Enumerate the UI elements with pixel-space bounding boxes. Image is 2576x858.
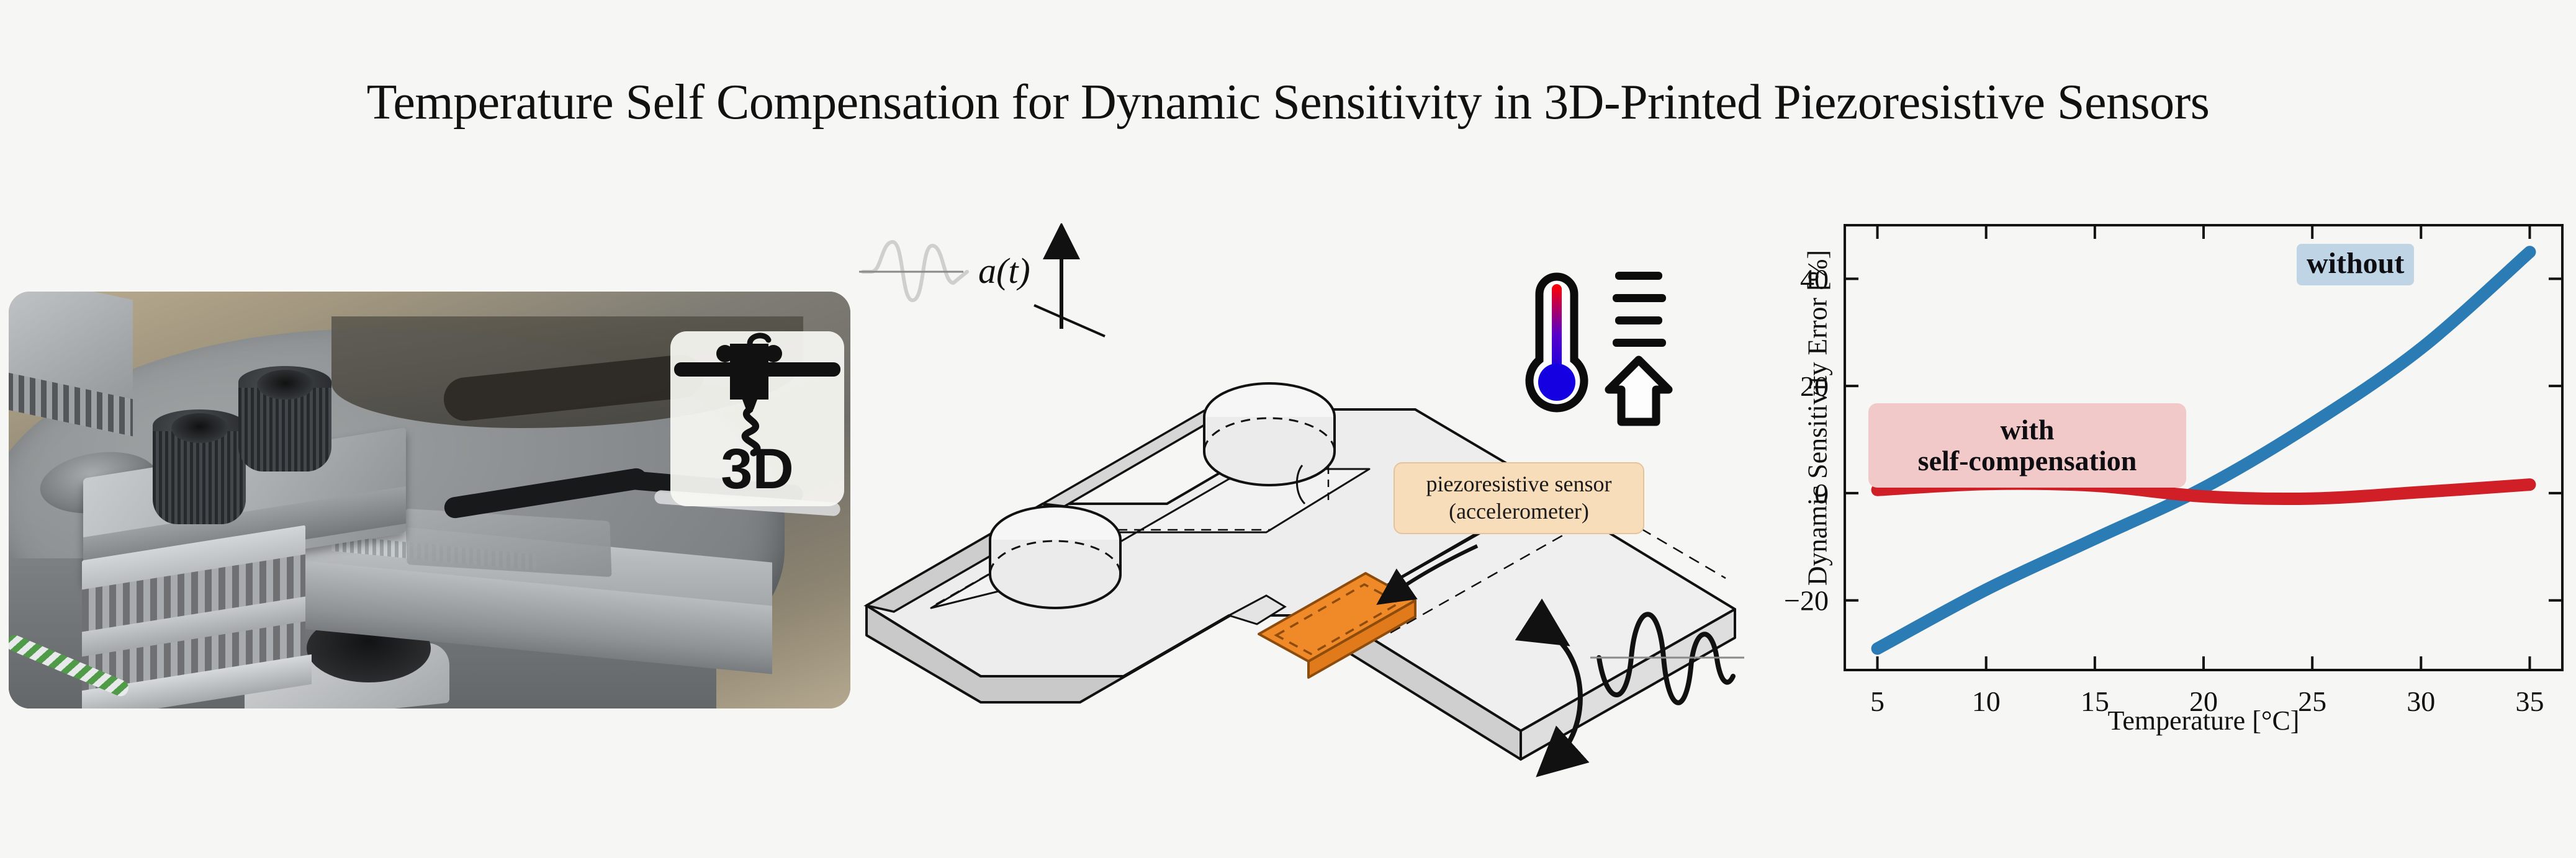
acceleration-label-text: a(t) <box>978 251 1030 291</box>
page-title: Temperature Self Compensation for Dynami… <box>0 74 2576 131</box>
temperature-icon-group <box>1502 267 1682 453</box>
series-label-with-line-1: with <box>2001 414 2055 445</box>
socket-screw-rear-hex <box>257 370 314 400</box>
acceleration-arrow-icon <box>1034 241 1105 336</box>
3d-printer-extruder-icon: 3D <box>670 331 844 506</box>
sensor-callout-box: piezoresistive sensor (accelerometer) <box>1394 462 1644 534</box>
chart-x-axis-label: Temperature [°C] <box>1845 705 2562 736</box>
series-label-with-self-compensation: with self-compensation <box>1868 403 2186 488</box>
mounting-hole-front <box>990 506 1120 608</box>
dynamic-sensitivity-error-chart: 5101520253035−2002040 Dynamic Sensitivit… <box>1738 205 2570 856</box>
sensor-callout-line-2: (accelerometer) <box>1449 498 1589 525</box>
socket-screw-front-body <box>153 431 246 524</box>
series-label-with-line-2: self-compensation <box>1918 445 2137 476</box>
svg-text:3D: 3D <box>721 437 794 501</box>
socket-screw-front-hex <box>171 413 228 443</box>
socket-screw-rear-body <box>238 388 331 471</box>
acceleration-waveform-icon <box>859 242 967 300</box>
sensor-callout-line-1: piezoresistive sensor <box>1426 471 1612 498</box>
thermometer-icon <box>1529 277 1584 408</box>
chart-y-axis-label: Dynamic Sensitivity Error [%] <box>1802 220 1834 617</box>
mounting-hole-rear <box>1204 383 1335 485</box>
up-arrow-icon <box>1609 360 1669 422</box>
heat-lines-icon <box>1613 272 1666 347</box>
series-label-without: without <box>2297 244 2414 285</box>
3d-printing-badge: 3D <box>670 331 844 506</box>
